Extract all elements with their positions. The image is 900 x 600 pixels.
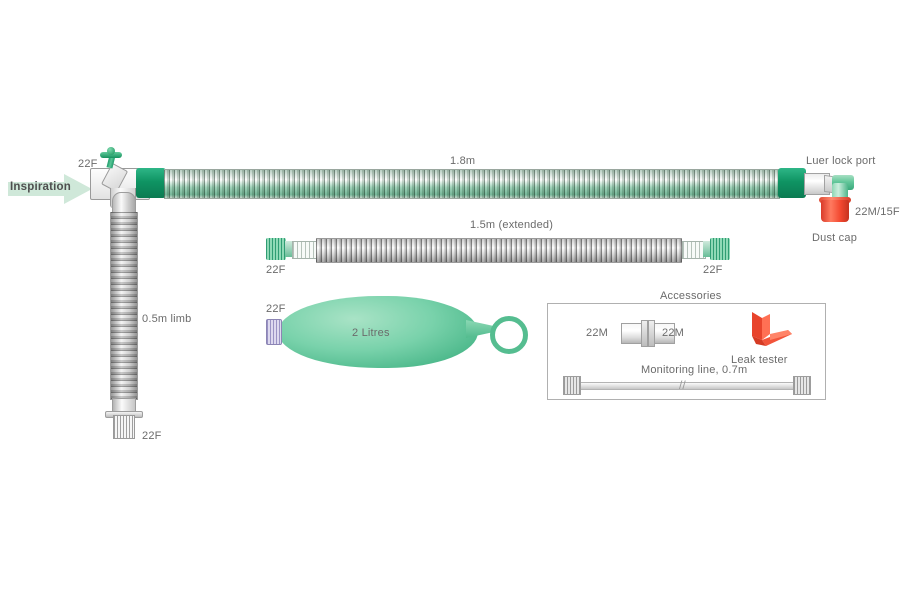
- extension-left-green-cuff: [266, 238, 286, 260]
- monitoring-line-label: Monitoring line, 0.7m: [641, 364, 747, 376]
- breathing-bag-volume-label: 2 Litres: [352, 327, 390, 339]
- straight-connector-rib: [648, 320, 655, 347]
- leak-tester-icon: [748, 310, 796, 350]
- main-tube-length-label: 1.8m: [450, 155, 475, 167]
- y-piece-green-port-knob: [107, 147, 115, 155]
- diagram-canvas: Inspiration 22F 0.5m limb 22F 1.8m Luer …: [0, 0, 900, 600]
- machine-end-green-cuff: [778, 168, 806, 198]
- y-piece-port-label: 22F: [78, 158, 98, 170]
- breathing-bag-neck-label: 22F: [266, 303, 286, 315]
- accessories-title: Accessories: [660, 290, 722, 302]
- extension-corrugated-tube: [316, 238, 682, 263]
- main-corrugated-tube: [164, 169, 780, 199]
- extension-length-label: 1.5m (extended): [470, 219, 553, 231]
- main-tube-green-cuff: [136, 168, 166, 198]
- monitoring-line-right-fitting: [793, 376, 811, 395]
- connector-left-size-label: 22M: [586, 327, 608, 339]
- luer-lock-port-label: Luer lock port: [806, 155, 875, 167]
- monitoring-line-break-icon: //: [679, 379, 691, 391]
- monitoring-line-left-fitting: [563, 376, 581, 395]
- connector-right-size-label: 22M: [662, 327, 684, 339]
- limb-length-label: 0.5m limb: [142, 313, 191, 325]
- breathing-bag-neck-connector: [266, 319, 282, 345]
- breathing-bag-ring: [490, 316, 528, 354]
- limb-corrugated-tube: [110, 212, 138, 400]
- limb-end-connector: [113, 415, 135, 439]
- limb-end-label: 22F: [142, 430, 162, 442]
- dust-cap-label: Dust cap: [812, 232, 857, 244]
- inspiration-label: Inspiration: [10, 181, 71, 193]
- straight-connector-rib: [641, 320, 648, 347]
- extension-left-smooth-section: [292, 241, 318, 259]
- extension-left-size-label: 22F: [266, 264, 286, 276]
- dust-cap: [821, 200, 849, 222]
- machine-end-size-label: 22M/15F: [855, 206, 900, 218]
- extension-right-size-label: 22F: [703, 264, 723, 276]
- extension-right-green-cuff: [710, 238, 730, 260]
